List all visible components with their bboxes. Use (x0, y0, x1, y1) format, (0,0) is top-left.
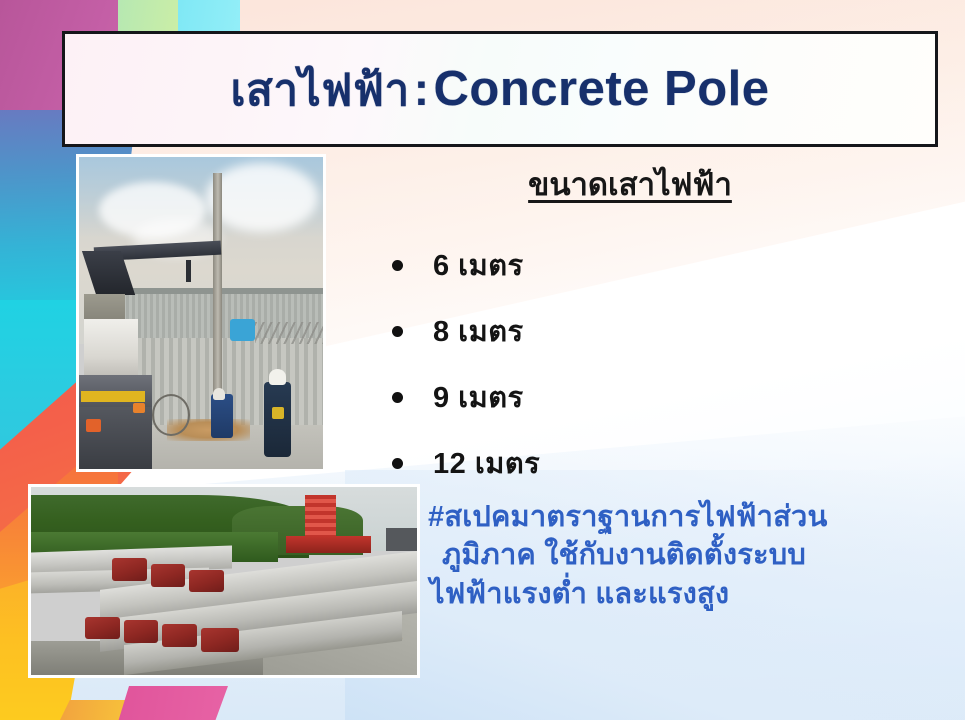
photo1-truck-lower (79, 407, 152, 469)
photo1-marker-light (86, 419, 101, 431)
list-item-label: 8 เมตร (433, 308, 524, 354)
photo1-worker-helmet (269, 369, 286, 385)
content-heading: ขนาดเสาไฟฟ้า (420, 166, 840, 203)
list-item: 8 เมตร (392, 298, 912, 364)
title-banner: เสาไฟฟ้า:Concrete Pole (62, 31, 938, 147)
photo2-pole-red-end (162, 624, 197, 647)
photo2-pole-red-end (124, 620, 159, 643)
title-thai: เสาไฟฟ้า (230, 66, 409, 115)
photo2-pole-red-end (201, 628, 240, 652)
bullet-dot-icon (392, 260, 403, 271)
title-separator: : (410, 63, 434, 115)
list-item: 9 เมตร (392, 364, 912, 430)
page-title: เสาไฟฟ้า:Concrete Pole (230, 65, 769, 114)
photo1-worker-tool (272, 407, 284, 419)
ribbon-strip-bottom (60, 700, 130, 720)
bullet-dot-icon (392, 326, 403, 337)
bullet-dot-icon (392, 458, 403, 469)
slide-canvas: เสาไฟฟ้า:Concrete Pole (0, 0, 965, 720)
specification-note: #สเปคมาตราฐานการไฟฟ้าส่วน ภูมิภาค ใช้กับ… (428, 498, 928, 613)
note-line-1: #สเปคมาตราฐานการไฟฟ้าส่วน (428, 498, 928, 536)
list-item: 6 เมตร (392, 232, 912, 298)
list-item-label: 12 เมตร (433, 440, 540, 486)
photo2-pole-red-end (189, 570, 224, 593)
image-crane-installing-concrete-pole (76, 154, 326, 472)
pole-size-list: 6 เมตร 8 เมตร 9 เมตร 12 เมตร (392, 232, 912, 496)
ribbon-band-magenta-bottom (118, 686, 228, 720)
photo1-cloud (206, 163, 318, 232)
photo1-crane-hook (186, 260, 191, 282)
photo2-truck (386, 528, 417, 551)
photo1-razor-wire (255, 322, 323, 344)
photo1-truck-outrigger (81, 391, 144, 402)
list-item-label: 6 เมตร (433, 242, 524, 288)
bullet-dot-icon (392, 392, 403, 403)
photo1-worker (211, 394, 233, 438)
photo1-blue-tarp (230, 319, 254, 341)
title-english: Concrete Pole (434, 62, 770, 116)
photo2-crane-base (286, 536, 371, 553)
photo1-worker (264, 382, 291, 457)
photo2-pole-red-end (112, 558, 147, 581)
list-item-label: 9 เมตร (433, 374, 524, 420)
image-stacked-concrete-poles (28, 484, 420, 678)
note-line-3: ไฟฟ้าแรงต่ำ และแรงสูง (428, 575, 928, 613)
photo2-pole-red-end (85, 617, 120, 640)
photo2-pole-red-end (151, 564, 186, 587)
photo1-coiled-hose (152, 394, 190, 435)
photo1-truck-cab (84, 319, 138, 381)
note-line-2: ภูมิภาค ใช้กับงานติดตั้งระบบ (428, 536, 928, 574)
list-item: 12 เมตร (392, 430, 912, 496)
photo1-worker-helmet (213, 388, 225, 400)
photo1-marker-light (133, 403, 145, 412)
